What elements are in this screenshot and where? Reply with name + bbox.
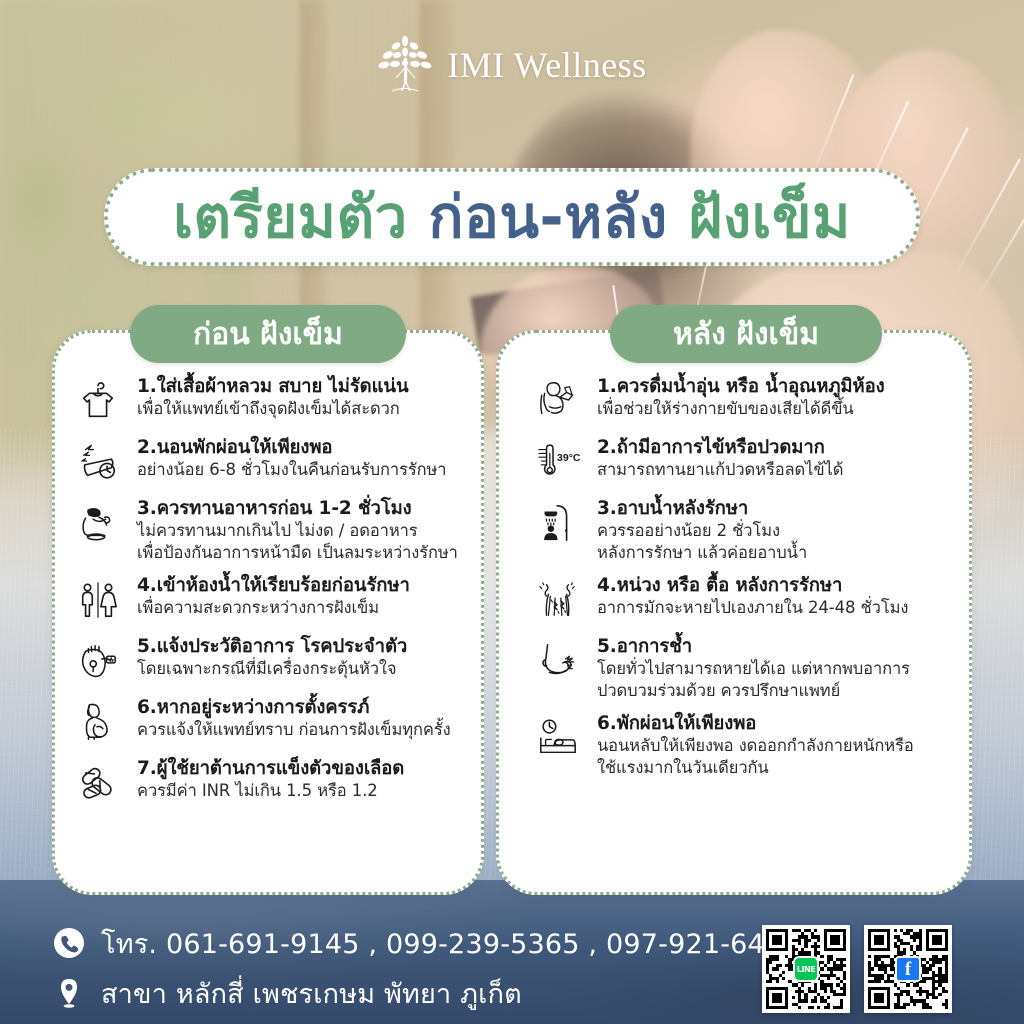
page-title-part2: ก่อน-หลัง <box>428 183 688 251</box>
facebook-qr-code[interactable]: f <box>864 925 952 1013</box>
body-aches-icon <box>532 575 584 625</box>
list-item-desc: อาการมักจะหายไปเองภายใน 24-48 ชั่วโมง <box>597 597 972 619</box>
list-item-title: 3.ควรทานอาหารก่อน 1-2 ชั่วโมง <box>137 498 412 519</box>
heart-pacemaker-icon <box>72 636 124 686</box>
branch-locations: สาขา หลักสี่ เพชรเกษม พัทยา ภูเก็ต <box>101 972 522 1015</box>
list-item-title: 6.พักผ่อนให้เพียงพอ <box>597 713 756 734</box>
line-logo-icon: LINE <box>793 956 819 982</box>
person-eating-icon <box>72 498 124 548</box>
list-item: 1.ควรดื่มน้ำอุ่น หรือ น้ำอุณหภูมิห้อง เพ… <box>532 374 972 426</box>
qr-codes: LINE f <box>762 925 952 1013</box>
facebook-glyph: f <box>905 960 911 979</box>
thermometer-value: 39°C <box>557 452 581 464</box>
list-item-desc: ไม่ควรทานมากเกินไป ไม่งด / อดอาหารเพื่อป… <box>137 520 522 564</box>
list-item-title: 1.ใส่เสื้อผ้าหลวม สบาย ไม่รัดแน่น <box>137 376 409 397</box>
list-item: 2.นอนพักผ่อนให้เพียงพอ อย่างน้อย 6-8 ชั่… <box>72 435 522 487</box>
list-item: 5.อาการช้ำ โดยทั่วไปสามารถหายได้เอ แต่หา… <box>532 634 972 702</box>
list-item-title: 5.อาการช้ำ <box>597 636 692 657</box>
page-title-part3: ฝังเข็ม <box>688 183 851 251</box>
list-item-desc: เพื่อความสะดวกระหว่างการฝังเข็ม <box>137 597 522 619</box>
person-drinking-water-icon <box>532 376 584 426</box>
bed-clock-icon <box>532 713 584 763</box>
brand-logo: IMI Wellness <box>0 30 1024 100</box>
list-item-desc: ควรแจ้งให้แพทย์ทราบ ก่อนการฝังเข็มทุกครั… <box>137 719 522 741</box>
page-title: เตรียมตัว ก่อน-หลัง ฝังเข็ม <box>104 168 920 266</box>
list-item-title: 1.ควรดื่มน้ำอุ่น หรือ น้ำอุณหภูมิห้อง <box>597 376 885 397</box>
list-item: 1.ใส่เสื้อผ้าหลวม สบาย ไม่รัดแน่น เพื่อใ… <box>72 374 522 426</box>
list-after-acupuncture: 1.ควรดื่มน้ำอุ่น หรือ น้ำอุณหภูมิห้อง เพ… <box>532 374 972 779</box>
pregnant-woman-icon <box>72 697 124 747</box>
list-item-title: 4.หน่วง หรือ ตื้อ หลังการรักษา <box>597 575 842 596</box>
list-item: 4.หน่วง หรือ ตื้อ หลังการรักษา อาการมักจ… <box>532 573 972 625</box>
list-item-title: 3.อาบน้ำหลังรักษา <box>597 498 748 519</box>
list-item-desc: โดยทั่วไปสามารถหายได้เอ แต่หากพบอาการปวด… <box>597 658 972 702</box>
list-item-title: 4.เข้าห้องน้ำให้เรียบร้อยก่อนรักษา <box>137 575 410 596</box>
phone-icon <box>52 926 86 960</box>
list-item-desc: นอนหลับให้เพียงพอ งดออกกำลังกายหนักหรือใ… <box>597 735 972 779</box>
restroom-icon <box>72 575 124 625</box>
tshirt-hanger-icon <box>72 376 124 426</box>
line-glyph: LINE <box>797 965 815 974</box>
badge-before-acupuncture: ก่อน ฝังเข็ม <box>130 305 406 363</box>
list-item-desc: เพื่อช่วยให้ร่างกายขับของเสียได้ดีขึ้น <box>597 398 972 420</box>
list-item-desc: เพื่อให้แพทย์เข้าถึงจุดฝังเข็มได้สะดวก <box>137 398 522 420</box>
list-item: 7.ผู้ใช้ยาต้านการแข็งตัวของเลือด ควรมีค่… <box>72 756 522 808</box>
list-before-acupuncture: 1.ใส่เสื้อผ้าหลวม สบาย ไม่รัดแน่น เพื่อใ… <box>72 374 522 808</box>
contact-info: โทร. 061-691-9145 , 099-239-5365 , 097-9… <box>52 922 800 1015</box>
pills-capsule-icon <box>72 758 124 808</box>
tree-icon <box>377 34 433 96</box>
pillow-clock-icon <box>72 437 124 487</box>
list-item: 3.ควรทานอาหารก่อน 1-2 ชั่วโมง ไม่ควรทานม… <box>72 496 522 564</box>
list-item: 6.หากอยู่ระหว่างการตั้งครรภ์ ควรแจ้งให้แ… <box>72 695 522 747</box>
contact-phone-row[interactable]: โทร. 061-691-9145 , 099-239-5365 , 097-9… <box>52 922 800 965</box>
brand-name: IMI Wellness <box>447 44 646 86</box>
page-title-part1: เตรียมตัว <box>173 183 428 251</box>
list-item-title: 2.ถ้ามีอาการไข้หรือปวดมาก <box>597 437 825 458</box>
list-item-title: 2.นอนพักผ่อนให้เพียงพอ <box>137 437 332 458</box>
list-item-desc: สามารถทานยาแก้ปวดหรือลดไข้ได้ <box>597 459 972 481</box>
line-qr-code[interactable]: LINE <box>762 925 850 1013</box>
list-item-title: 6.หากอยู่ระหว่างการตั้งครรภ์ <box>137 697 369 718</box>
list-item: 5.แจ้งประวัติอาการ โรคประจำตัว โดยเฉพาะก… <box>72 634 522 686</box>
phone-numbers: โทร. 061-691-9145 , 099-239-5365 , 097-9… <box>101 922 800 965</box>
list-item: 4.เข้าห้องน้ำให้เรียบร้อยก่อนรักษา เพื่อ… <box>72 573 522 625</box>
list-item-desc: ควรมีค่า INR ไม่เกิน 1.5 หรือ 1.2 <box>137 780 522 802</box>
list-item-desc: ควรรออย่างน้อย 2 ชั่วโมงหลังการรักษา แล้… <box>597 520 972 564</box>
list-item-title: 5.แจ้งประวัติอาการ โรคประจำตัว <box>137 636 407 657</box>
badge-after-acupuncture: หลัง ฝังเข็ม <box>610 305 882 363</box>
contact-location-row[interactable]: สาขา หลักสี่ เพชรเกษม พัทยา ภูเก็ต <box>52 972 800 1015</box>
bruised-foot-icon <box>532 636 584 686</box>
list-item: 6.พักผ่อนให้เพียงพอ นอนหลับให้เพียงพอ งด… <box>532 711 972 779</box>
list-item-desc: อย่างน้อย 6-8 ชั่วโมงในคืนก่อนรับการรักษ… <box>137 459 522 481</box>
list-item: 3.อาบน้ำหลังรักษา ควรรออย่างน้อย 2 ชั่วโ… <box>532 496 972 564</box>
list-item: 39°C 2.ถ้ามีอาการไข้หรือปวดมาก สามารถทาน… <box>532 435 972 487</box>
shower-person-icon <box>532 498 584 548</box>
location-pin-icon <box>52 976 86 1010</box>
thermometer-icon: 39°C <box>532 437 584 487</box>
list-item-desc: โดยเฉพาะกรณีที่มีเครื่องกระตุ้นหัวใจ <box>137 658 522 680</box>
list-item-title: 7.ผู้ใช้ยาต้านการแข็งตัวของเลือด <box>137 758 404 779</box>
facebook-logo-icon: f <box>895 956 921 982</box>
